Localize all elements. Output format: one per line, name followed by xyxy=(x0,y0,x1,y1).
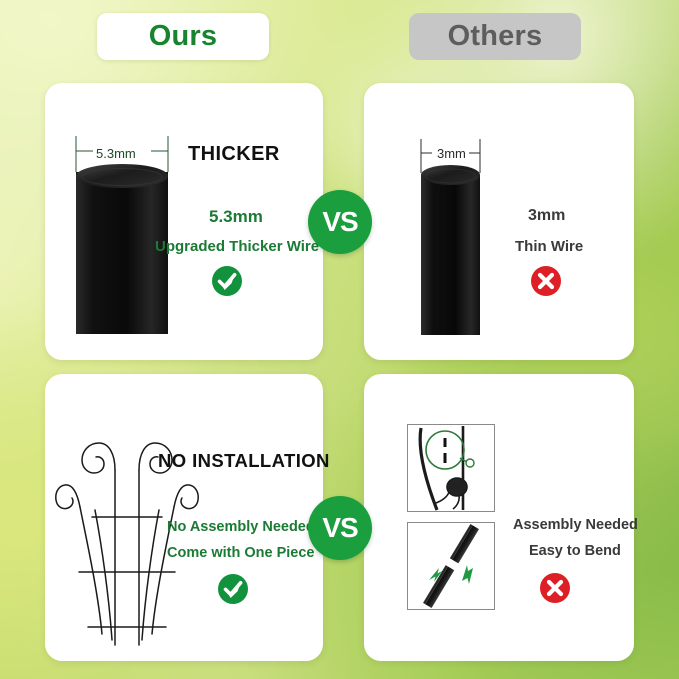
vs-badge-bottom-label: VS xyxy=(322,512,357,544)
card-others-thickness: 3mm 3mm Thin Wire xyxy=(364,83,634,360)
vs-badge-bottom: VS xyxy=(308,496,372,560)
no-installation-heading: NO INSTALLATION xyxy=(158,450,330,472)
card-ours-thickness: 5.3mm THICKER 5.3mm Upgraded Thicker Wir… xyxy=(45,83,323,360)
check-circle-icon xyxy=(211,265,243,297)
spec-value-ours: 5.3mm xyxy=(209,207,263,227)
spec-line1-others-install: Assembly Needed xyxy=(513,517,638,533)
header-pill-others-label: Others xyxy=(448,20,543,53)
dimension-label-others: 3mm xyxy=(437,146,466,161)
spec-desc-others: Thin Wire xyxy=(515,238,583,255)
header-pill-ours: Ours xyxy=(97,13,269,60)
spec-value-others: 3mm xyxy=(528,207,565,225)
spec-line2-others-install: Easy to Bend xyxy=(529,543,621,559)
spec-line1-ours-install: No Assembly Needed xyxy=(167,519,315,535)
vs-badge-top: VS xyxy=(308,190,372,254)
vs-badge-top-label: VS xyxy=(322,206,357,238)
thin-rod-diagram xyxy=(408,133,518,358)
check-circle-icon xyxy=(217,573,249,605)
spec-line2-ours-install: Come with One Piece xyxy=(167,545,314,561)
infographic-canvas: Ours Others xyxy=(0,0,679,679)
spec-desc-ours: Upgraded Thicker Wire xyxy=(155,238,319,255)
thicker-heading: THICKER xyxy=(188,143,280,166)
card-others-installation: Assembly Needed Easy to Bend xyxy=(364,374,634,661)
rod-separating-icon xyxy=(407,522,495,610)
dimension-label-ours: 5.3mm xyxy=(96,146,136,161)
card-ours-installation: NO INSTALLATION No Assembly Needed Come … xyxy=(45,374,323,661)
joint-magnifier-icon xyxy=(407,424,495,512)
header-pill-ours-label: Ours xyxy=(149,20,218,53)
x-circle-icon xyxy=(539,572,571,604)
x-circle-icon xyxy=(530,265,562,297)
header-pill-others: Others xyxy=(409,13,581,60)
